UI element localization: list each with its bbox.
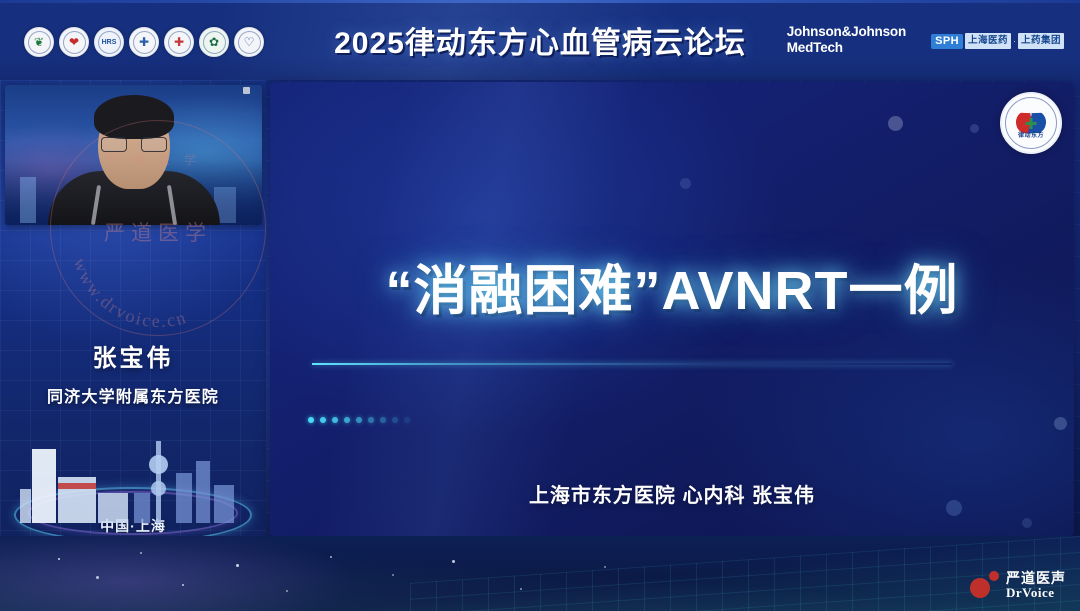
red-heart-emblem-glyph: ❤ — [69, 36, 79, 48]
speaker-affiliation: 同济大学附属东方医院 — [0, 383, 266, 407]
slide-dot-decoration — [308, 417, 410, 423]
jnj-line-2: MedTech — [787, 40, 906, 56]
blue-heart-emblem-glyph: ♡ — [244, 36, 255, 48]
cardio-society-glyph: ✚ — [174, 36, 184, 48]
deco-dot — [404, 417, 410, 423]
cbs-shield-logo: ✚ — [129, 27, 159, 57]
johnson-johnson-logo: Johnson&Johnson MedTech — [787, 24, 906, 56]
china-map-emblem-glyph: ❦ — [34, 36, 44, 48]
deco-dot — [320, 417, 326, 423]
oriental-pearl-tower-icon — [156, 441, 161, 523]
drvoice-brand-logo: 严道医声 DrVoice — [970, 570, 1066, 601]
footer-star — [182, 584, 184, 586]
slide-bokeh-2 — [970, 124, 979, 133]
red-heart-emblem-logo: ❤ — [59, 27, 89, 57]
hrs-heart-glyph: HRS — [102, 39, 117, 46]
slide-bokeh-6 — [1022, 518, 1032, 528]
hospital-logo-caption: 律动东方 — [1002, 130, 1060, 139]
speaker-hair — [94, 95, 174, 139]
drvoice-brand-cn: 严道医声 — [1006, 570, 1066, 586]
speaker-name: 张宝伟 — [0, 338, 266, 373]
footer-star — [140, 552, 142, 554]
header-top-accent-line — [0, 0, 1080, 3]
speaker-video-tile[interactable] — [5, 85, 262, 225]
skyline-darkbuilding-3 — [214, 485, 234, 523]
hrs-heart-logo: HRS — [94, 27, 124, 57]
shanghai-skyline-illustration — [6, 439, 260, 549]
deco-dot — [356, 417, 362, 423]
skyline-building-4 — [20, 489, 31, 523]
medical-cross-icon — [1026, 118, 1037, 129]
sph-separator-dot: · — [1013, 36, 1016, 46]
video-corner-indicator — [243, 87, 250, 94]
header-bar: ❦ ❤ HRS ✚ ✚ ✿ ♡ 2025律动东方心血管病云论坛 Johnson&… — [0, 0, 1080, 80]
blue-heart-emblem-logo: ♡ — [234, 27, 264, 57]
slide-bokeh-3 — [680, 178, 691, 189]
deco-dot — [392, 417, 398, 423]
deco-dot — [344, 417, 350, 423]
footer-star — [452, 560, 455, 563]
footer-star — [58, 558, 60, 560]
footer-star — [96, 576, 99, 579]
footer-star — [286, 590, 288, 592]
slide-title: “消融困难”AVNRT一例 — [270, 246, 1074, 325]
slide-divider-line — [312, 363, 952, 365]
speaker-glasses-icon — [101, 137, 167, 153]
slide-bokeh-1 — [888, 116, 903, 131]
drvoice-brand-text: 严道医声 DrVoice — [1006, 570, 1066, 601]
slide-subtitle: 上海市东方医院 心内科 张宝伟 — [270, 479, 1074, 508]
organizer-logo-row: ❦ ❤ HRS ✚ ✚ ✿ ♡ — [24, 27, 264, 57]
footer-star — [236, 564, 239, 567]
skyline-building-1 — [32, 449, 56, 523]
skyline-hospital-sign — [58, 483, 96, 489]
cardio-society-logo: ✚ — [164, 27, 194, 57]
china-map-emblem-logo: ❦ — [24, 27, 54, 57]
sph-chinese-name: 上海医药 — [965, 33, 1011, 49]
sph-badge-text: SPH — [931, 34, 963, 49]
webinar-screenshot: ❦ ❤ HRS ✚ ✚ ✿ ♡ 2025律动东方心血管病云论坛 Johnson&… — [0, 0, 1080, 611]
speaker-panel: 张宝伟 同济大学附属东方医院 中国·上海 013011-250415 — [0, 80, 266, 611]
skyline-darkbuilding-2 — [196, 461, 210, 523]
slide-bokeh-4 — [1054, 417, 1067, 430]
green-heart-hand-glyph: ✿ — [209, 36, 219, 48]
jnj-line-1: Johnson&Johnson — [787, 24, 906, 40]
footer-star — [520, 588, 522, 590]
drvoice-brand-en: DrVoice — [1006, 586, 1066, 601]
deco-dot — [380, 417, 386, 423]
cbs-shield-glyph: ✚ — [139, 36, 149, 48]
deco-dot — [332, 417, 338, 423]
deco-dot — [308, 417, 314, 423]
drvoice-dot-small — [989, 571, 999, 581]
drvoice-dot-large — [970, 578, 990, 598]
drvoice-dots-icon — [970, 570, 1000, 600]
footer-star — [392, 574, 394, 576]
presentation-slide[interactable]: 律动东方 “消融困难”AVNRT一例 上海市东方医院 心内科 张宝伟 2025年… — [270, 82, 1074, 537]
skyline-darkbuilding-4 — [134, 493, 150, 523]
deco-dot — [368, 417, 374, 423]
hospital-heart-logo: 律动东方 — [1000, 92, 1062, 154]
footer-star — [604, 566, 606, 568]
skyline-darkbuilding-1 — [176, 473, 192, 523]
skyline-building-3 — [98, 493, 128, 523]
sph-group-name: 上药集团 — [1018, 33, 1064, 49]
green-heart-hand-logo: ✿ — [199, 27, 229, 57]
footer-star — [330, 556, 332, 558]
sph-logo: SPH 上海医药 · 上药集团 — [931, 32, 1064, 50]
footer-band: 严道医声 DrVoice — [0, 536, 1080, 611]
